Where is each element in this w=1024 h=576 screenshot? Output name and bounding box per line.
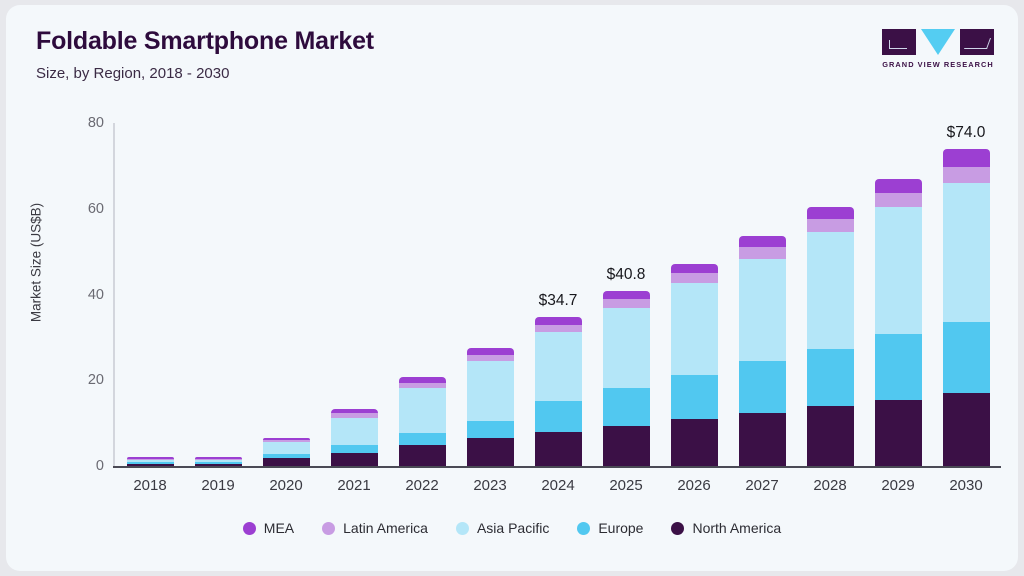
logo-triangle-icon	[921, 29, 955, 55]
bar-segment-mea[interactable]	[807, 207, 854, 219]
y-axis-title: Market Size (US$B)	[29, 123, 44, 403]
bar-segment-europe[interactable]	[875, 334, 922, 399]
bar-segment-europe[interactable]	[671, 375, 718, 419]
bar-segment-mea[interactable]	[671, 264, 718, 273]
bar-stack[interactable]	[127, 457, 174, 466]
bar-segment-latin-america[interactable]	[671, 273, 718, 283]
chart-header: Foldable Smartphone Market Size, by Regi…	[36, 27, 994, 82]
bar-stack[interactable]	[399, 377, 446, 466]
bar-column[interactable]	[252, 123, 320, 466]
bar-stack[interactable]	[195, 457, 242, 466]
logo-box-left-icon	[882, 29, 916, 55]
bar-stack[interactable]: $34.7	[535, 317, 582, 466]
legend-label: Asia Pacific	[477, 520, 549, 536]
bar-segment-north-america[interactable]	[467, 438, 514, 466]
bar-segment-asia-pacific[interactable]	[603, 308, 650, 387]
bar-segment-europe[interactable]	[603, 388, 650, 426]
y-axis-tick-label: 60	[58, 201, 104, 217]
bar-segment-europe[interactable]	[399, 433, 446, 445]
bar-segment-latin-america[interactable]	[603, 299, 650, 308]
x-axis-tick-label: 2029	[864, 477, 932, 494]
bar-column[interactable]: $74.0	[932, 123, 1000, 466]
x-axis-tick-labels: 2018201920202021202220232024202520262027…	[116, 477, 1000, 494]
y-axis-tick-label: 80	[58, 115, 104, 131]
legend-label: Latin America	[343, 520, 428, 536]
x-axis-tick-label: 2025	[592, 477, 660, 494]
bar-stack[interactable]: $40.8	[603, 291, 650, 466]
bar-stack[interactable]: $74.0	[943, 149, 990, 466]
bar-segment-asia-pacific[interactable]	[875, 207, 922, 334]
bar-segment-asia-pacific[interactable]	[263, 442, 310, 454]
bar-column[interactable]	[728, 123, 796, 466]
bar-segment-north-america[interactable]	[739, 413, 786, 466]
bar-column[interactable]	[660, 123, 728, 466]
bar-segment-latin-america[interactable]	[807, 219, 854, 232]
bar-segment-mea[interactable]	[739, 236, 786, 247]
bar-stack[interactable]	[875, 179, 922, 466]
bar-segment-latin-america[interactable]	[943, 167, 990, 183]
bar-segment-europe[interactable]	[467, 421, 514, 438]
bar-segment-north-america[interactable]	[535, 432, 582, 466]
y-axis-line	[113, 123, 115, 467]
bar-column[interactable]: $34.7	[524, 123, 592, 466]
bar-segment-europe[interactable]	[943, 322, 990, 393]
chart-legend: MEALatin AmericaAsia PacificEuropeNorth …	[6, 520, 1018, 536]
x-axis-tick-label: 2018	[116, 477, 184, 494]
x-axis-tick-label: 2024	[524, 477, 592, 494]
chart-subtitle: Size, by Region, 2018 - 2030	[36, 65, 994, 82]
bar-segment-mea[interactable]	[535, 317, 582, 324]
legend-item-asia-pacific[interactable]: Asia Pacific	[456, 520, 549, 536]
bar-segment-north-america[interactable]	[807, 406, 854, 466]
bar-segment-north-america[interactable]	[263, 458, 310, 466]
x-axis-tick-label: 2023	[456, 477, 524, 494]
x-axis-tick-label: 2028	[796, 477, 864, 494]
bar-segment-europe[interactable]	[739, 361, 786, 413]
legend-swatch-icon	[456, 522, 469, 535]
bar-column[interactable]	[864, 123, 932, 466]
logo-wordmark: GRAND VIEW RESEARCH	[882, 60, 994, 69]
legend-label: Europe	[598, 520, 643, 536]
bar-value-label: $74.0	[947, 124, 986, 142]
bar-segment-north-america[interactable]	[195, 464, 242, 466]
bar-column[interactable]	[388, 123, 456, 466]
bar-column[interactable]	[184, 123, 252, 466]
bar-segment-europe[interactable]	[807, 349, 854, 406]
bar-segment-north-america[interactable]	[943, 393, 990, 466]
y-axis-tick-label: 0	[58, 458, 104, 474]
legend-label: MEA	[264, 520, 294, 536]
legend-item-europe[interactable]: Europe	[577, 520, 643, 536]
legend-item-latin-america[interactable]: Latin America	[322, 520, 428, 536]
bar-segment-north-america[interactable]	[603, 426, 650, 466]
bar-segment-asia-pacific[interactable]	[535, 332, 582, 401]
bar-segment-latin-america[interactable]	[535, 325, 582, 333]
legend-item-north-america[interactable]: North America	[671, 520, 781, 536]
bar-column[interactable]	[796, 123, 864, 466]
bar-column[interactable]	[456, 123, 524, 466]
legend-swatch-icon	[577, 522, 590, 535]
bar-stack[interactable]	[807, 207, 854, 466]
x-axis-tick-label: 2021	[320, 477, 388, 494]
bar-stack[interactable]	[331, 409, 378, 466]
bar-segment-north-america[interactable]	[671, 419, 718, 466]
bar-segment-asia-pacific[interactable]	[671, 283, 718, 374]
bar-segment-mea[interactable]	[603, 291, 650, 299]
bar-column[interactable]	[320, 123, 388, 466]
legend-swatch-icon	[322, 522, 335, 535]
logo-marks	[882, 29, 994, 55]
bar-value-label: $40.8	[607, 266, 646, 284]
bar-segment-north-america[interactable]	[331, 453, 378, 466]
x-axis-tick-label: 2020	[252, 477, 320, 494]
bar-segment-north-america[interactable]	[127, 464, 174, 466]
x-axis-tick-label: 2022	[388, 477, 456, 494]
bar-segment-europe[interactable]	[535, 401, 582, 432]
bar-segment-latin-america[interactable]	[739, 247, 786, 259]
x-axis-tick-label: 2027	[728, 477, 796, 494]
bar-column[interactable]	[116, 123, 184, 466]
page-title: Foldable Smartphone Market	[36, 27, 994, 56]
legend-swatch-icon	[671, 522, 684, 535]
bar-stack[interactable]	[671, 264, 718, 466]
logo-box-right-icon	[960, 29, 994, 55]
bar-segment-north-america[interactable]	[875, 400, 922, 466]
bar-segment-asia-pacific[interactable]	[399, 388, 446, 432]
bar-segment-mea[interactable]	[875, 179, 922, 192]
bar-value-label: $34.7	[539, 292, 578, 310]
bar-segment-asia-pacific[interactable]	[467, 361, 514, 421]
brand-logo: GRAND VIEW RESEARCH	[882, 29, 994, 69]
y-axis-tick-label: 20	[58, 372, 104, 388]
x-axis-line	[113, 466, 1001, 468]
bar-segment-europe[interactable]	[331, 445, 378, 453]
bar-segment-asia-pacific[interactable]	[739, 259, 786, 361]
bar-segment-asia-pacific[interactable]	[331, 418, 378, 445]
chart-card: Foldable Smartphone Market Size, by Regi…	[6, 5, 1018, 571]
legend-label: North America	[692, 520, 781, 536]
legend-item-mea[interactable]: MEA	[243, 520, 294, 536]
bar-stack[interactable]	[739, 236, 786, 466]
plot-area: Market Size (US$B) 020406080 $34.7$40.8$…	[6, 105, 1018, 500]
bar-segment-asia-pacific[interactable]	[943, 183, 990, 322]
bar-column[interactable]: $40.8	[592, 123, 660, 466]
x-axis-tick-label: 2019	[184, 477, 252, 494]
bar-segment-north-america[interactable]	[399, 445, 446, 466]
x-axis-tick-label: 2030	[932, 477, 1000, 494]
bar-stack[interactable]	[263, 438, 310, 466]
bar-segment-asia-pacific[interactable]	[807, 232, 854, 348]
legend-swatch-icon	[243, 522, 256, 535]
bar-group: $34.7$40.8$74.0	[116, 123, 1000, 466]
bar-segment-latin-america[interactable]	[875, 193, 922, 208]
bar-segment-mea[interactable]	[943, 149, 990, 167]
bar-stack[interactable]	[467, 348, 514, 466]
y-axis-tick-label: 40	[58, 287, 104, 303]
y-axis-tick-labels: 020406080	[58, 105, 104, 500]
x-axis-tick-label: 2026	[660, 477, 728, 494]
